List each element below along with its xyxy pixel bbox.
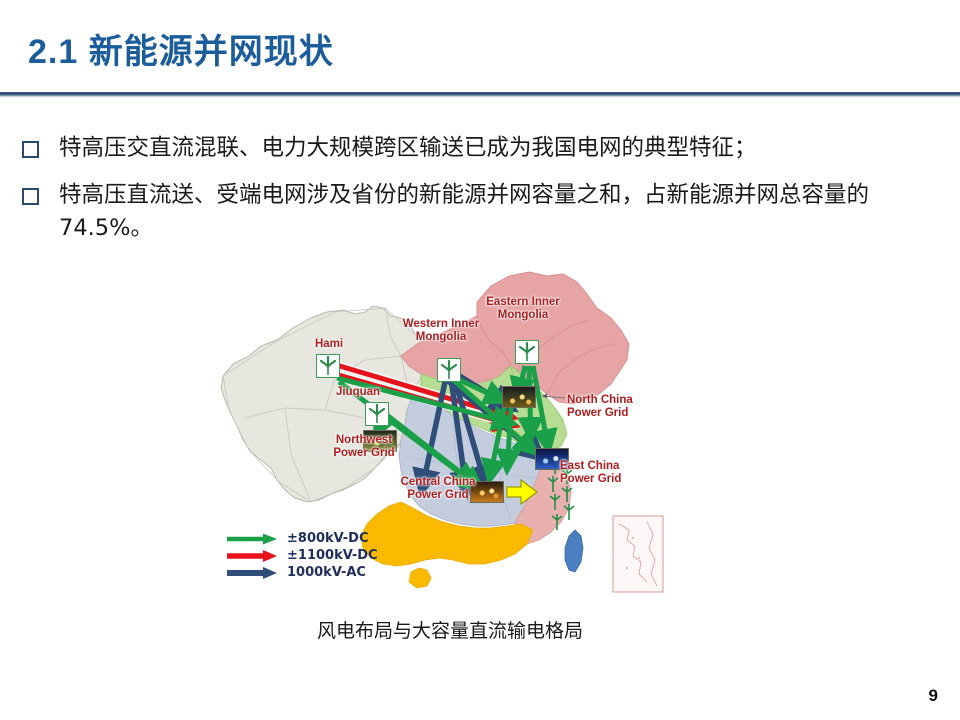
square-bullet-icon: [22, 188, 39, 205]
legend-arrow-blue-icon: [225, 566, 279, 580]
legend-item-1100kv: ±1100kV-DC: [225, 547, 395, 564]
map-label-north-china-power-grid: North China Power Grid: [567, 394, 653, 420]
bullet-list: 特高压交直流混联、电力大规模跨区输送已成为我国电网的典型特征； 特高压直流送、受…: [22, 132, 938, 259]
list-item: 特高压直流送、受端电网涉及省份的新能源并网容量之和，占新能源并网总容量的74.5…: [22, 179, 938, 245]
china-map: Hami Jiuquan Western Inner Mongolia East…: [215, 268, 685, 608]
map-region-taiwan: [565, 530, 583, 572]
wind-turbine-icon-western-inner-mongolia: [437, 358, 461, 382]
map-label-east-china-power-grid: East China Power Grid: [560, 460, 642, 486]
map-legend: ±800kV-DC ±1100kV-DC 1000kV-AC: [225, 530, 395, 581]
page-title: 2.1 新能源并网现状: [28, 24, 334, 73]
legend-arrow-green-icon: [225, 532, 279, 546]
list-item: 特高压交直流混联、电力大规模跨区输送已成为我国电网的典型特征；: [22, 132, 938, 165]
legend-label-800kv: ±800kV-DC: [287, 531, 369, 546]
legend-item-1000kv-ac: 1000kV-AC: [225, 564, 395, 581]
wind-turbine-icon-eastern-inner-mongolia: [515, 340, 539, 364]
map-label-central-china-power-grid: Central China Power Grid: [391, 476, 485, 502]
map-label-eastern-inner-mongolia: Eastern Inner Mongolia: [473, 296, 573, 322]
title-divider-shadow: [0, 96, 960, 98]
map-label-hami: Hami: [301, 338, 357, 351]
city-photo-north-china: [502, 386, 536, 408]
legend-label-1100kv: ±1100kV-DC: [287, 548, 378, 563]
wind-turbine-icon-jiuquan: [365, 402, 389, 426]
figure-caption: 风电布局与大容量直流输电格局: [215, 616, 685, 643]
legend-arrow-red-icon: [225, 549, 279, 563]
legend-label-1000kv-ac: 1000kV-AC: [287, 565, 366, 580]
square-bullet-icon: [22, 141, 39, 158]
map-label-northwest-power-grid: Northwest Power Grid: [319, 434, 409, 460]
bullet-text: 特高压直流送、受端电网涉及省份的新能源并网容量之和，占新能源并网总容量的74.5…: [59, 179, 938, 245]
wind-turbine-icon-hami: [316, 354, 340, 378]
figure-wind-power-map: Hami Jiuquan Western Inner Mongolia East…: [215, 268, 685, 668]
inset-map-box: [613, 516, 663, 592]
map-label-jiuquan: Jiuquan: [323, 386, 393, 399]
bullet-text: 特高压交直流混联、电力大规模跨区输送已成为我国电网的典型特征；: [59, 132, 938, 165]
legend-item-800kv: ±800kV-DC: [225, 530, 395, 547]
page-number: 9: [929, 686, 938, 706]
